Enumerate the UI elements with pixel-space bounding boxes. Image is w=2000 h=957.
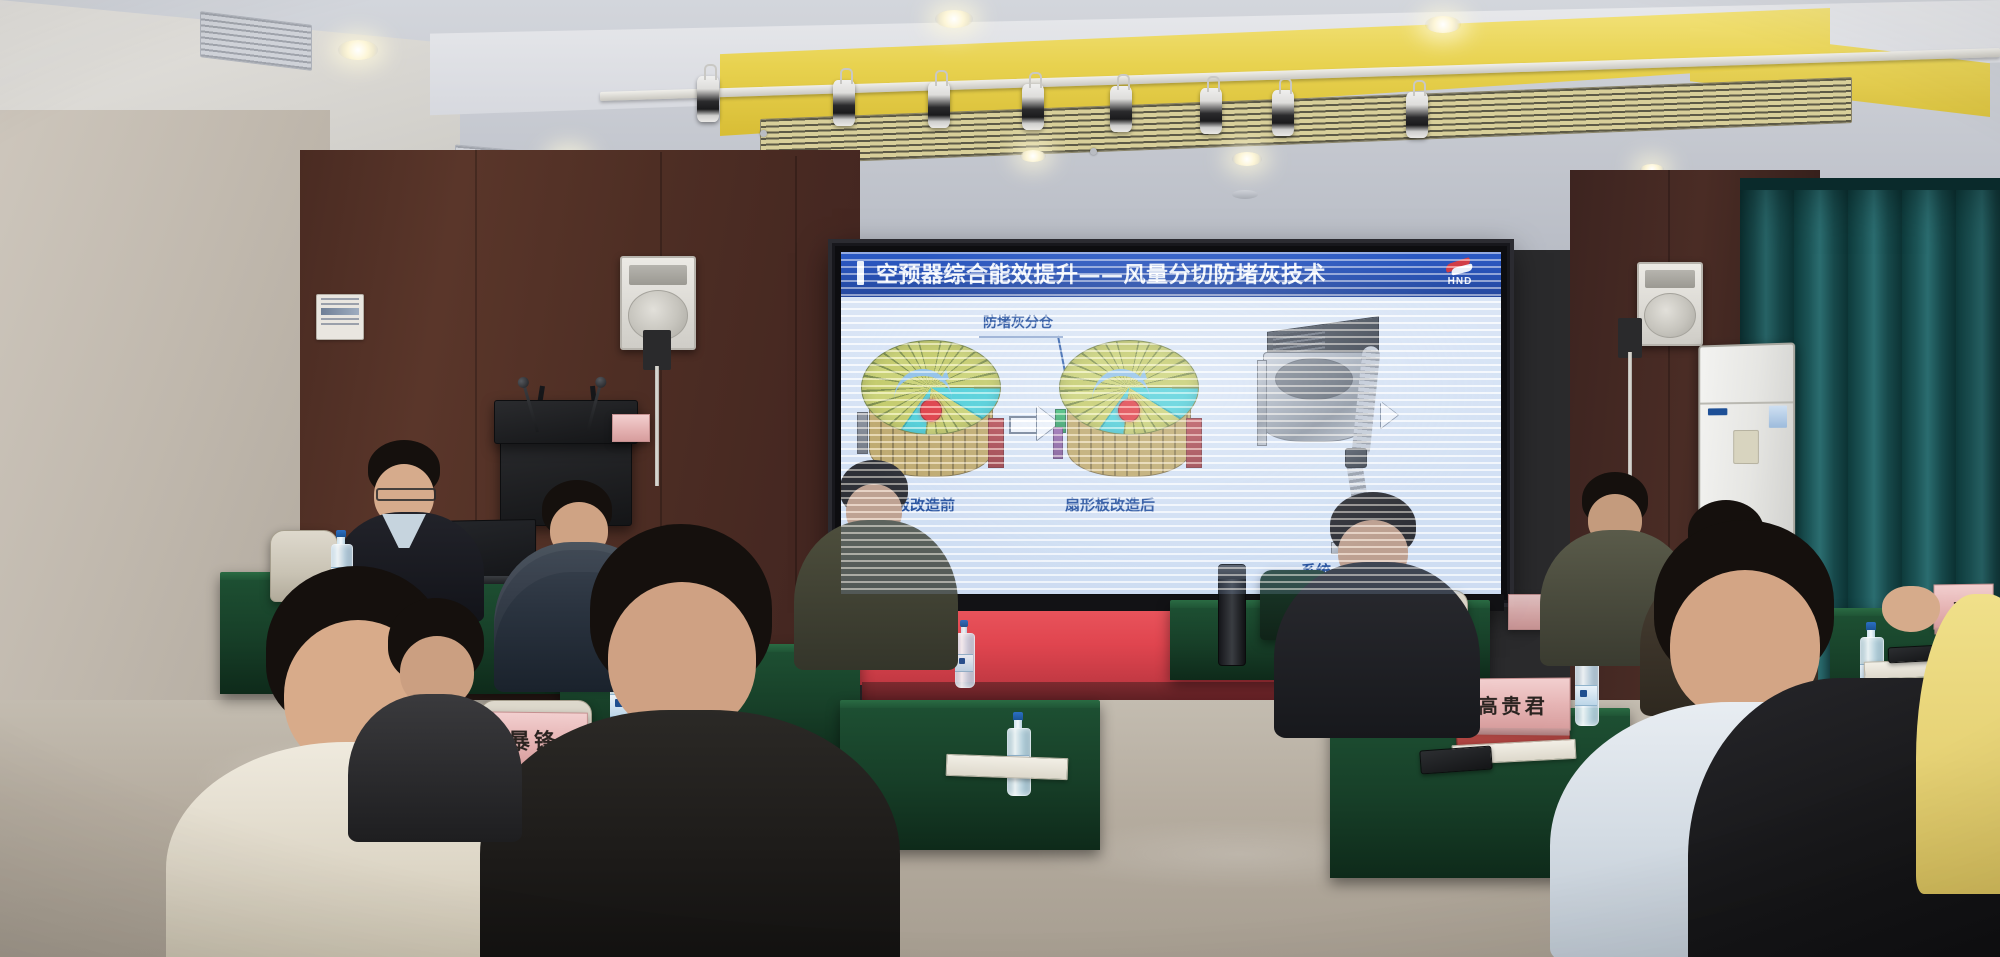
bottle-label-mark: [959, 658, 965, 664]
track-spotlight-1: [697, 76, 719, 122]
wall-plaque: [316, 294, 364, 340]
slide-title-underline: [841, 294, 1501, 297]
curtain-rail: [1740, 178, 2000, 190]
wall-speaker-right: [1637, 262, 1703, 346]
equipment-frame: [1257, 360, 1267, 446]
ac-control-panel: [1733, 430, 1759, 464]
placard-av-area: [612, 414, 650, 442]
attendee-torso: [1274, 562, 1480, 738]
conference-room-photo: 空预器综合能效提升——风量分切防堵灰技术 HND 防堵灰分仓: [0, 0, 2000, 957]
track-spotlight-7: [1272, 90, 1294, 136]
speaker-woofer-right: [1644, 293, 1696, 338]
rotor-after-seal-purple: [1053, 427, 1063, 459]
placard-gaoguijun-name: 高贵君: [1478, 689, 1548, 718]
thermos-flask[interactable]: [1218, 564, 1246, 666]
rotor-before-hub: [920, 399, 943, 422]
speaker-pole-right: [1628, 352, 1632, 482]
annotation-leader-horizontal: [979, 336, 1063, 338]
attendee-torso-yellow: [1916, 594, 2000, 894]
attendee-hand: [1882, 586, 1940, 632]
rotor-after-seal-red: [1186, 418, 1202, 468]
attendee-yellow-sweater: [1916, 574, 2000, 884]
bottle-label-mark: [1580, 690, 1587, 697]
track-spotlight-4: [1022, 84, 1044, 130]
attendee-foreground-center: [520, 524, 860, 957]
caption-after: 扇形板改造后: [1065, 494, 1155, 515]
slide-annotation-label: 防堵灰分仓: [983, 312, 1053, 332]
ceiling-downlight-6: [1020, 150, 1046, 162]
equipment-pointer-arrow: [1381, 402, 1398, 428]
ac-brand-badge: [1708, 408, 1727, 415]
track-spotlight-6: [1200, 88, 1222, 134]
phone-on-table-2[interactable]: [1419, 746, 1492, 775]
track-spotlight-8: [1406, 92, 1428, 138]
ceiling-downlight-3: [935, 10, 973, 28]
rotor-after-hub: [1118, 399, 1141, 422]
speaker-bracket-left: [643, 330, 671, 370]
speaker-tweeter-right: [1645, 270, 1695, 288]
ceiling-downlight-1: [338, 40, 378, 60]
attendee-torso-large: [480, 710, 900, 957]
speaker-pole-left: [655, 366, 659, 486]
notebook-2[interactable]: [946, 754, 1069, 780]
ac-unit-seam: [1700, 401, 1793, 404]
attendee-left-edge: [358, 598, 508, 828]
equipment-joint: [1345, 448, 1367, 468]
rotor-before-seal-grey: [857, 412, 868, 454]
sprinkler-head-1: [1090, 148, 1097, 155]
rotor-diagram-after: [1059, 340, 1197, 490]
track-spotlight-5: [1110, 86, 1132, 132]
hnd-logo-text: HND: [1448, 277, 1473, 287]
smoke-detector: [1232, 190, 1258, 199]
attendee-center-screen: [1282, 492, 1472, 722]
ceiling-downlight-4: [1425, 16, 1461, 33]
rotor-before-seal-red: [988, 418, 1004, 468]
attendee-torso: [348, 694, 522, 842]
slide-title: 空预器综合能效提升——风量分切防堵灰技术: [876, 257, 1326, 289]
speaker-tweeter: [629, 265, 687, 285]
ac-energy-label: [1769, 405, 1787, 427]
hnd-logo: HND: [1429, 255, 1491, 291]
presenter-glasses: [376, 488, 436, 501]
hnd-logo-mark: [1443, 259, 1477, 277]
track-spotlight-3: [928, 82, 950, 128]
ceiling-downlight-5: [1232, 152, 1262, 166]
sprinkler-head-2: [760, 130, 767, 137]
slide-title-bar: 空预器综合能效提升——风量分切防堵灰技术 HND: [841, 252, 1501, 294]
thermos-lid: [1218, 565, 1246, 579]
track-spotlight-2: [833, 80, 855, 126]
equipment-inner-drum: [1275, 358, 1353, 400]
water-bottle-3[interactable]: [1006, 712, 1030, 794]
slide-title-accent: [857, 261, 864, 285]
